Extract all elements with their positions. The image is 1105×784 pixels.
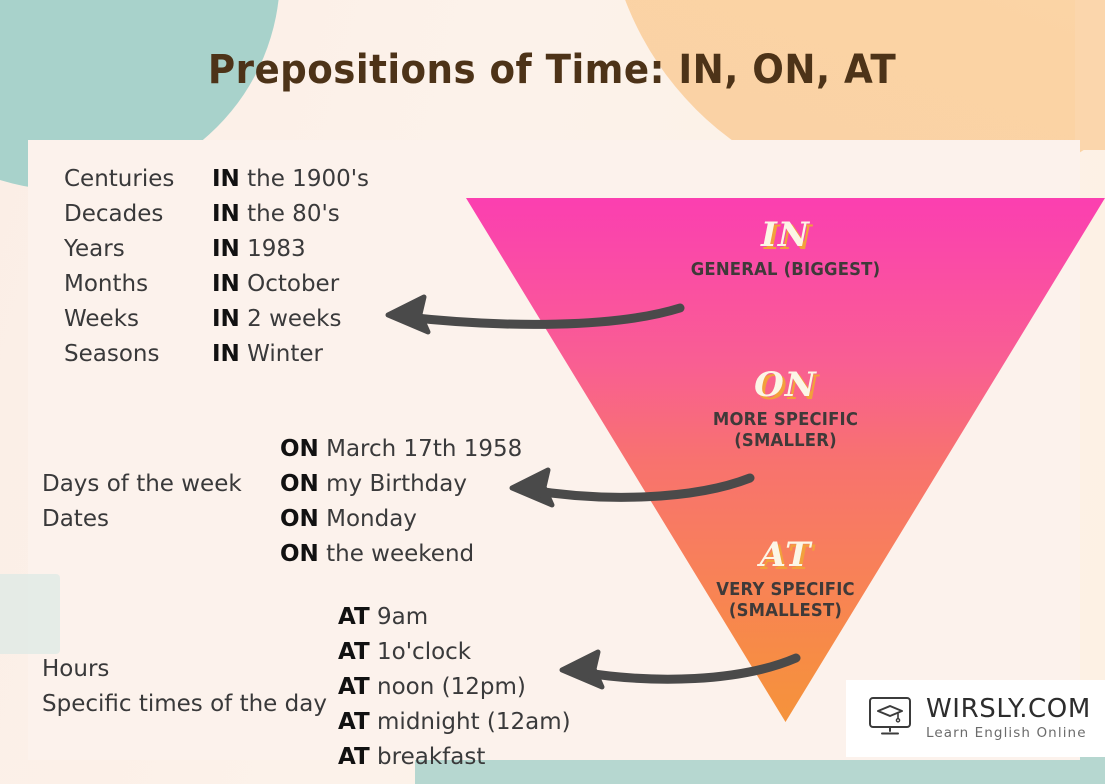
triangle-subtitle-at-line2: (SMALLEST) xyxy=(485,601,1086,622)
example-item: IN 2 weeks xyxy=(212,302,369,337)
triangle-word-at: AT xyxy=(466,538,1105,574)
section-on: Days of the weekDates ON March 17th 1958… xyxy=(42,432,522,572)
infographic-poster: Prepositions of Time: IN, ON, AT IN GENE… xyxy=(0,0,1105,784)
example-preposition: AT xyxy=(338,744,370,770)
logo-tagline: Learn English Online xyxy=(926,727,1091,741)
example-preposition: ON xyxy=(280,541,319,567)
example-preposition: ON xyxy=(280,471,319,497)
example-preposition: ON xyxy=(280,436,319,462)
triangle-word-in: IN xyxy=(466,218,1105,254)
arrow-at xyxy=(544,644,806,692)
example-text: October xyxy=(240,271,339,297)
example-item: IN the 80's xyxy=(212,197,369,232)
triangle-subtitle-at-line1: VERY SPECIFIC xyxy=(485,580,1086,601)
triangle-subtitle-in: GENERAL (BIGGEST) xyxy=(485,260,1086,281)
example-text: 1983 xyxy=(240,236,306,262)
example-item: ON March 17th 1958 xyxy=(280,432,522,467)
label-item: Centuries xyxy=(64,162,212,197)
title-bar: Prepositions of Time: IN, ON, AT xyxy=(0,0,1105,140)
example-text: 2 weeks xyxy=(240,306,342,332)
example-item: AT noon (12pm) xyxy=(338,670,571,705)
example-item: IN the 1900's xyxy=(212,162,369,197)
arrow-on xyxy=(494,464,756,510)
label-item: Hours xyxy=(42,652,338,687)
triangle-word-on: ON xyxy=(466,368,1105,404)
example-text: Winter xyxy=(240,341,323,367)
section-at: HoursSpecific times of the day AT 9amAT … xyxy=(42,600,571,775)
page-title: Prepositions of Time: IN, ON, AT xyxy=(208,47,896,93)
example-text: March 17th 1958 xyxy=(319,436,522,462)
example-text: Monday xyxy=(319,506,417,532)
label-item: Seasons xyxy=(64,337,212,372)
example-item: AT 9am xyxy=(338,600,571,635)
example-text: my Birthday xyxy=(319,471,467,497)
example-item: ON the weekend xyxy=(280,537,522,572)
example-preposition: AT xyxy=(338,674,370,700)
label-item: Decades xyxy=(64,197,212,232)
triangle-level-on: ON MORE SPECIFIC (SMALLER) xyxy=(466,368,1105,452)
example-text: 9am xyxy=(370,604,428,630)
section-in-labels: CenturiesDecadesYearsMonthsWeeksSeasons xyxy=(64,162,212,372)
example-item: ON my Birthday xyxy=(280,467,522,502)
example-item: IN October xyxy=(212,267,369,302)
example-item: ON Monday xyxy=(280,502,522,537)
logo-watermark[interactable]: WIRSLY.COM Learn English Online xyxy=(846,680,1105,757)
example-preposition: IN xyxy=(212,166,240,192)
section-in: CenturiesDecadesYearsMonthsWeeksSeasons … xyxy=(64,162,369,372)
triangle-subtitle-on-line2: (SMALLER) xyxy=(485,431,1086,452)
example-preposition: IN xyxy=(212,201,240,227)
example-item: AT 1o'clock xyxy=(338,635,571,670)
example-item: IN Winter xyxy=(212,337,369,372)
example-text: midnight (12am) xyxy=(370,709,571,735)
label-item: Weeks xyxy=(64,302,212,337)
example-preposition: IN xyxy=(212,341,240,367)
label-item: Dates xyxy=(42,502,280,537)
example-text: breakfast xyxy=(370,744,486,770)
logo-name: WIRSLY.COM xyxy=(926,696,1091,722)
triangle-level-in: IN GENERAL (BIGGEST) xyxy=(466,218,1105,281)
section-on-examples: ON March 17th 1958ON my BirthdayON Monda… xyxy=(280,432,522,572)
label-item: Months xyxy=(64,267,212,302)
example-text: the 80's xyxy=(240,201,340,227)
example-preposition: AT xyxy=(338,709,370,735)
example-item: IN 1983 xyxy=(212,232,369,267)
example-item: AT midnight (12am) xyxy=(338,705,571,740)
label-item: Specific times of the day xyxy=(42,687,338,722)
example-item: AT breakfast xyxy=(338,740,571,775)
example-preposition: AT xyxy=(338,639,370,665)
arrow-in xyxy=(366,288,686,336)
example-text: the weekend xyxy=(319,541,474,567)
example-text: noon (12pm) xyxy=(370,674,526,700)
monitor-graduation-cap-icon xyxy=(868,696,912,741)
example-preposition: IN xyxy=(212,271,240,297)
section-in-examples: IN the 1900'sIN the 80'sIN 1983IN Octobe… xyxy=(212,162,369,372)
label-item: Days of the week xyxy=(42,467,280,502)
triangle-subtitle-on-line1: MORE SPECIFIC xyxy=(485,410,1086,431)
example-preposition: IN xyxy=(212,306,240,332)
example-text: 1o'clock xyxy=(370,639,471,665)
example-preposition: ON xyxy=(280,506,319,532)
section-at-labels: HoursSpecific times of the day xyxy=(42,652,338,722)
section-on-labels: Days of the weekDates xyxy=(42,467,280,537)
example-preposition: IN xyxy=(212,236,240,262)
label-item: Years xyxy=(64,232,212,267)
example-preposition: AT xyxy=(338,604,370,630)
example-text: the 1900's xyxy=(240,166,369,192)
section-at-examples: AT 9amAT 1o'clockAT noon (12pm)AT midnig… xyxy=(338,600,571,775)
